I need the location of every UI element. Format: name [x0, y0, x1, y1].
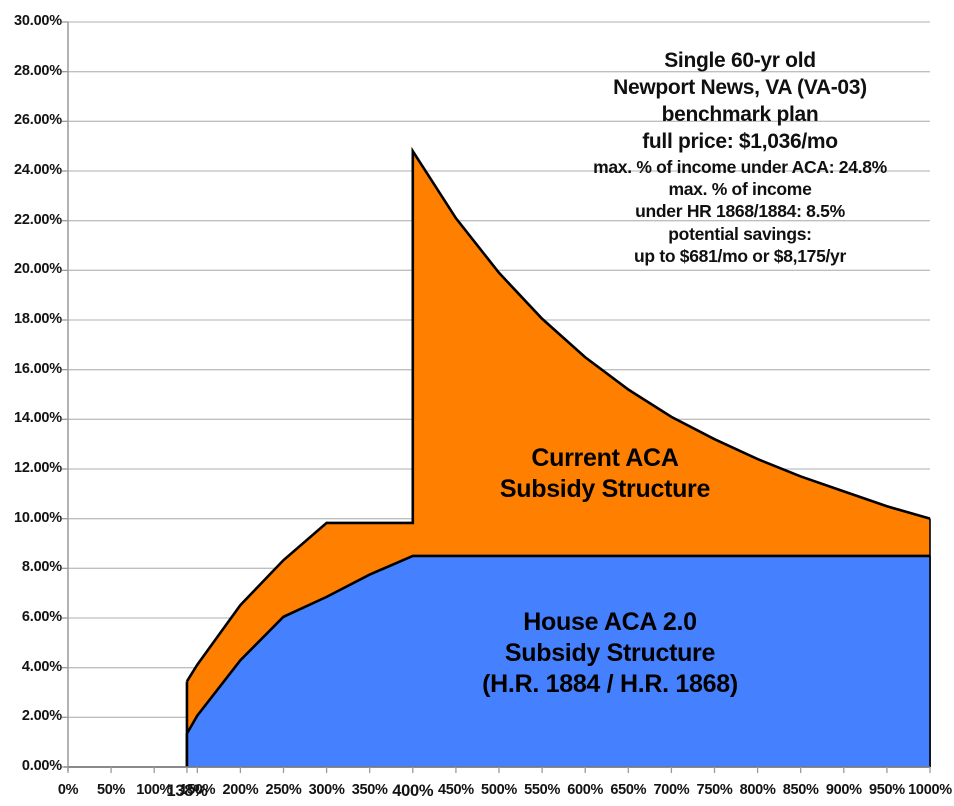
y-tick-label: 14.00% [2, 410, 62, 426]
annotation-line: Single 60-yr old [545, 48, 935, 75]
series-label-house-aca: House ACA 2.0Subsidy Structure(H.R. 1884… [400, 607, 820, 699]
x-tick-label: 450% [438, 782, 474, 798]
x-tick-label: 500% [481, 782, 517, 798]
y-tick-label: 6.00% [2, 609, 62, 625]
y-tick-label: 16.00% [2, 361, 62, 377]
x-tick-label: 950% [869, 782, 905, 798]
x-tick-label: 250% [266, 782, 302, 798]
y-tick-label: 8.00% [2, 559, 62, 575]
annotation-info-block: Single 60-yr oldNewport News, VA (VA-03)… [545, 48, 935, 267]
x-tick-label: 50% [97, 782, 125, 798]
y-tick-label: 0.00% [2, 758, 62, 774]
x-tick-label: 400% [392, 782, 433, 801]
y-tick-label: 24.00% [2, 162, 62, 178]
annotation-line: Newport News, VA (VA-03) [545, 75, 935, 102]
series-label-line: Current ACA [420, 443, 790, 474]
series-label-line: (H.R. 1884 / H.R. 1868) [400, 669, 820, 700]
annotation-line: max. % of income [545, 178, 935, 200]
x-tick-label: 350% [352, 782, 388, 798]
y-tick-label: 22.00% [2, 212, 62, 228]
x-tick-label: 600% [567, 782, 603, 798]
annotation-line: benchmark plan [545, 102, 935, 129]
series-label-line: Subsidy Structure [400, 638, 820, 669]
x-tick-label: 750% [697, 782, 733, 798]
annotation-line: under HR 1868/1884: 8.5% [545, 200, 935, 222]
x-tick-label: 700% [653, 782, 689, 798]
x-tick-label: 650% [610, 782, 646, 798]
y-tick-label: 30.00% [2, 13, 62, 29]
x-tick-label: 200% [222, 782, 258, 798]
y-tick-label: 4.00% [2, 659, 62, 675]
y-tick-label: 28.00% [2, 63, 62, 79]
chart-canvas: 0.00%2.00%4.00%6.00%8.00%10.00%12.00%14.… [0, 0, 954, 806]
y-tick-label: 26.00% [2, 112, 62, 128]
x-tick-label: 550% [524, 782, 560, 798]
x-tick-label: 900% [826, 782, 862, 798]
series-label-line: House ACA 2.0 [400, 607, 820, 638]
x-tick-label: 150% [179, 782, 215, 798]
y-tick-label: 10.00% [2, 510, 62, 526]
y-tick-label: 2.00% [2, 708, 62, 724]
y-tick-label: 20.00% [2, 261, 62, 277]
annotation-line: potential savings: [545, 223, 935, 245]
x-tick-label: 0% [58, 782, 78, 798]
x-tick-label: 800% [740, 782, 776, 798]
x-tick-label: 300% [309, 782, 345, 798]
annotation-line: full price: $1,036/mo [545, 129, 935, 156]
x-tick-label: 850% [783, 782, 819, 798]
y-tick-label: 18.00% [2, 311, 62, 327]
x-tick-label: 1000% [908, 782, 952, 798]
series-label-current-aca: Current ACASubsidy Structure [420, 443, 790, 505]
annotation-line: up to $681/mo or $8,175/yr [545, 245, 935, 267]
y-tick-label: 12.00% [2, 460, 62, 476]
annotation-line: max. % of income under ACA: 24.8% [545, 156, 935, 178]
series-label-line: Subsidy Structure [420, 474, 790, 505]
